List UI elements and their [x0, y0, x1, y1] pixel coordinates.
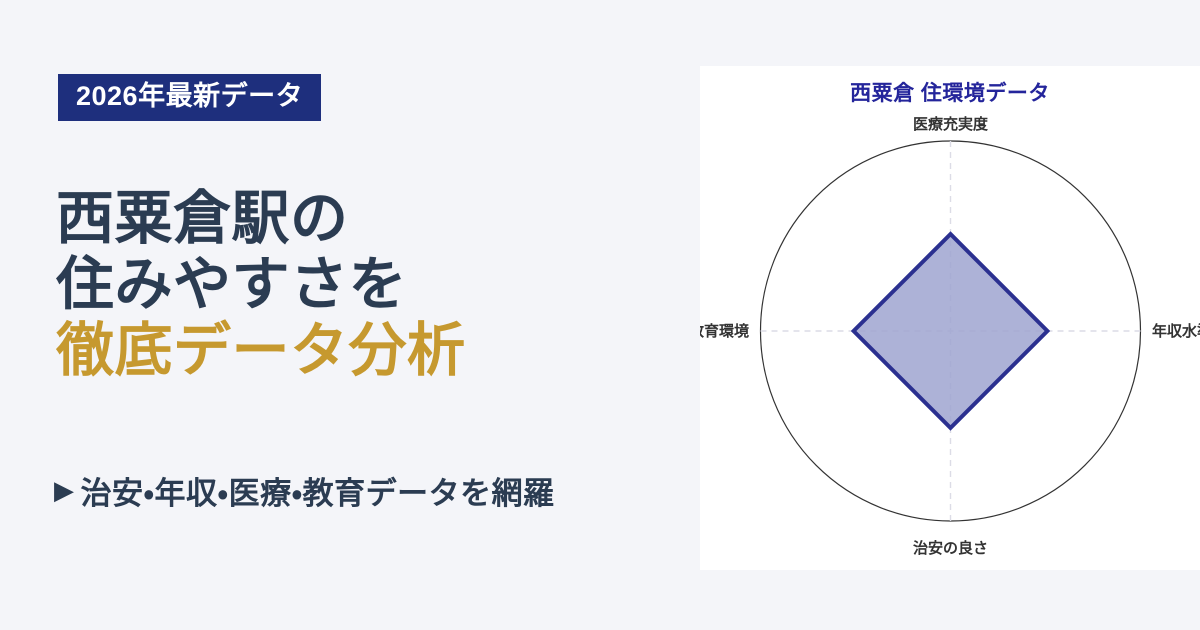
radar-chart-card: 西粟倉 住環境データ 医療充実度 年収水準 治安の良さ 教育環境 — [700, 66, 1200, 570]
axis-label-safety: 治安の良さ — [913, 539, 988, 557]
axis-label-medical: 医療充実度 — [913, 115, 988, 133]
page-title: 西粟倉駅の 住みやすさを 徹底データ分析 — [56, 186, 676, 384]
left-content-column: 2026年最新データ 西粟倉駅の 住みやすさを 徹底データ分析 ▶ 治安・年収・… — [0, 0, 700, 630]
headline-line-2: 住みやすさを — [56, 252, 676, 318]
headline-line-1: 西粟倉駅の — [56, 186, 676, 252]
date-badge-label: 2026年最新データ — [76, 81, 303, 111]
date-badge: 2026年最新データ — [58, 74, 321, 121]
axis-label-education: 教育環境 — [700, 322, 749, 340]
radar-data-polygon — [854, 234, 1048, 428]
triangle-marker-icon: ▶ — [54, 477, 75, 503]
headline-line-3: 徹底データ分析 — [56, 318, 676, 384]
subtitle-text: 治安・年収・医療・教育データを網羅 — [81, 468, 555, 513]
radar-chart: 医療充実度 年収水準 治安の良さ 教育環境 — [700, 66, 1200, 570]
axis-label-income: 年収水準 — [1152, 322, 1200, 340]
subtitle: ▶ 治安・年収・医療・教育データを網羅 — [54, 468, 555, 513]
